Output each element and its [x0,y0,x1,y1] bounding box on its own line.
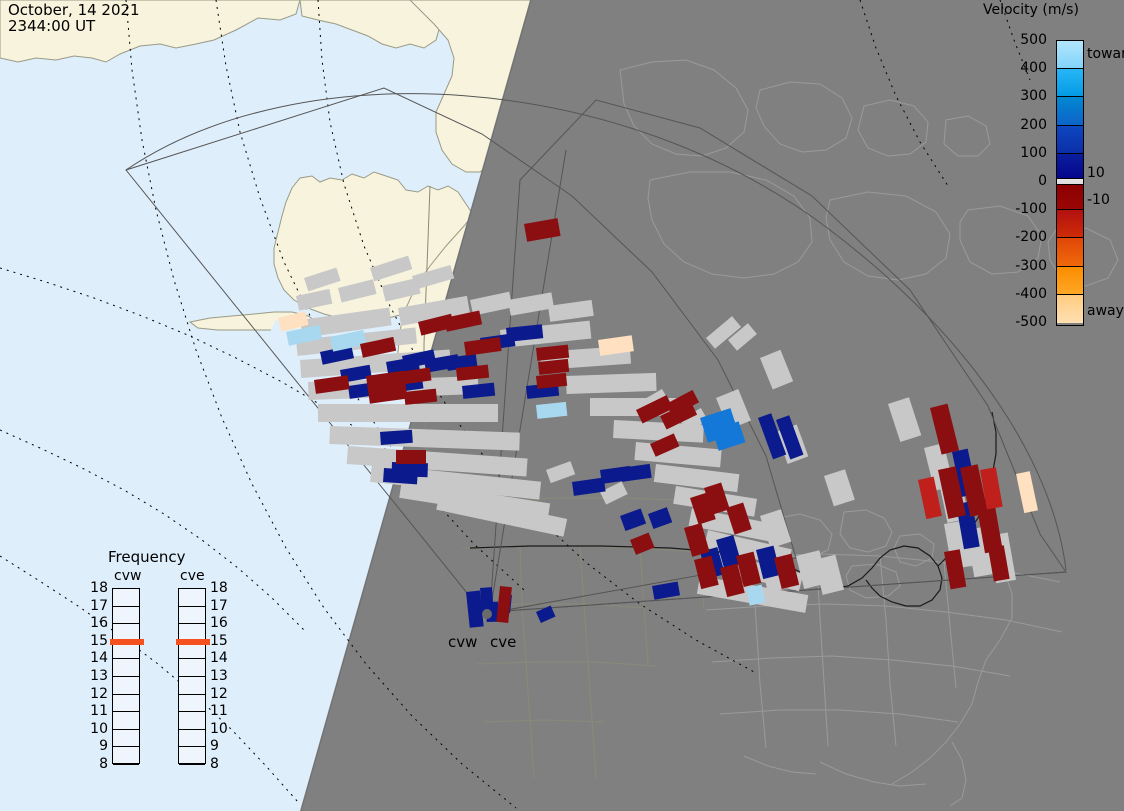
velocity-band-200-to-100 [1057,126,1083,154]
velocity-tick--400: -400 [1015,286,1047,302]
velocity-tick-labels: 5004003002001000-100-200-300-400-500 [975,40,1051,324]
velocity-band--400-to--500 [1057,295,1083,323]
timestamp: October, 14 2021 2344:00 UT [8,2,140,34]
velocity-tick--500: -500 [1015,314,1047,330]
frequency-scale-label-left-8: 8 [82,756,108,772]
radar-site-label-cve: cve [490,633,516,651]
velocity-negative-threshold-label: -10 [1087,192,1110,208]
velocity-away-label: away [1087,303,1124,319]
frequency-scale-label-right-12: 12 [210,686,228,702]
velocity-color-scale [1056,40,1084,326]
frequency-cell [113,695,139,713]
velocity-band--200-to--300 [1057,238,1083,266]
frequency-cell [179,747,205,765]
velocity-positive-threshold-label: 10 [1087,165,1105,181]
frequency-scale-label-right-14: 14 [210,650,228,666]
velocity-tick-300: 300 [1020,88,1047,104]
frequency-gauge-name-cve: cve [180,568,205,584]
frequency-cell [179,695,205,713]
frequency-scale-label-left-17: 17 [82,598,108,614]
velocity-band--10-to--100 [1057,185,1083,210]
velocity-tick-400: 400 [1020,60,1047,76]
frequency-cell [179,730,205,748]
frequency-cell [113,730,139,748]
frequency-cell [113,677,139,695]
velocity-tick--300: -300 [1015,258,1047,274]
frequency-scale-label-left-13: 13 [82,668,108,684]
frequency-scale-label-left-16: 16 [82,615,108,631]
velocity-colorbar: Velocity (m/s) 5004003002001000-100-200-… [975,2,1124,332]
frequency-marker-cve [176,639,210,645]
frequency-scale-label-right-17: 17 [210,598,228,614]
frequency-scale-label-right-8: 8 [210,756,219,772]
frequency-cell [113,607,139,625]
velocity-band-500-to-400 [1057,41,1083,69]
frequency-cell [179,659,205,677]
radar-site-marker [482,609,492,619]
frequency-marker-cvw [110,639,144,645]
frequency-scale-label-right-11: 11 [210,703,228,719]
frequency-cell [179,607,205,625]
frequency-gauge-name-cvw: cvw [114,568,141,584]
velocity-tick--100: -100 [1015,201,1047,217]
velocity-tick-500: 500 [1020,32,1047,48]
frequency-cell [179,677,205,695]
frequency-scale-label-left-18: 18 [82,580,108,596]
frequency-scale-label-left-15: 15 [82,633,108,649]
frequency-legend-title: Frequency [108,548,186,566]
frequency-cell [179,712,205,730]
frequency-scale-label-left-11: 11 [82,703,108,719]
frequency-cell [113,747,139,765]
frequency-scale-label-right-9: 9 [210,738,219,754]
frequency-scale-label-right-18: 18 [210,580,228,596]
velocity-tick-200: 200 [1020,117,1047,133]
frequency-scale-label-left-12: 12 [82,686,108,702]
radar-site-label-cvw: cvw [448,633,477,651]
velocity-tick-0: 0 [1038,173,1047,189]
velocity-band-100-to-10 [1057,154,1083,179]
frequency-scale-label-right-13: 13 [210,668,228,684]
frequency-legend: Frequency cvw cve 18171615141312111098 1… [78,548,238,788]
frequency-cell [113,712,139,730]
velocity-band-300-to-200 [1057,97,1083,125]
velocity-colorbar-title: Velocity (m/s) [983,2,1079,18]
frequency-scale-label-left-9: 9 [82,738,108,754]
frequency-cell [113,659,139,677]
frequency-cell [113,589,139,607]
superdarn-map-view: cvw cve October, 14 2021 2344:00 UT Velo… [0,0,1124,811]
frequency-scale-label-left-10: 10 [82,721,108,737]
frequency-gauge-cvw[interactable] [112,588,140,764]
frequency-scale-label-left-14: 14 [82,650,108,666]
frequency-scale-label-right-10: 10 [210,721,228,737]
frequency-scale-label-right-15: 15 [210,633,228,649]
velocity-toward-label: toward [1087,46,1124,62]
velocity-tick--200: -200 [1015,229,1047,245]
velocity-band--300-to--400 [1057,267,1083,295]
velocity-tick-100: 100 [1020,145,1047,161]
frequency-cell [179,589,205,607]
velocity-band-400-to-300 [1057,69,1083,97]
frequency-scale-label-right-16: 16 [210,615,228,631]
velocity-band--100-to--200 [1057,210,1083,238]
frequency-gauge-cve[interactable] [178,588,206,764]
